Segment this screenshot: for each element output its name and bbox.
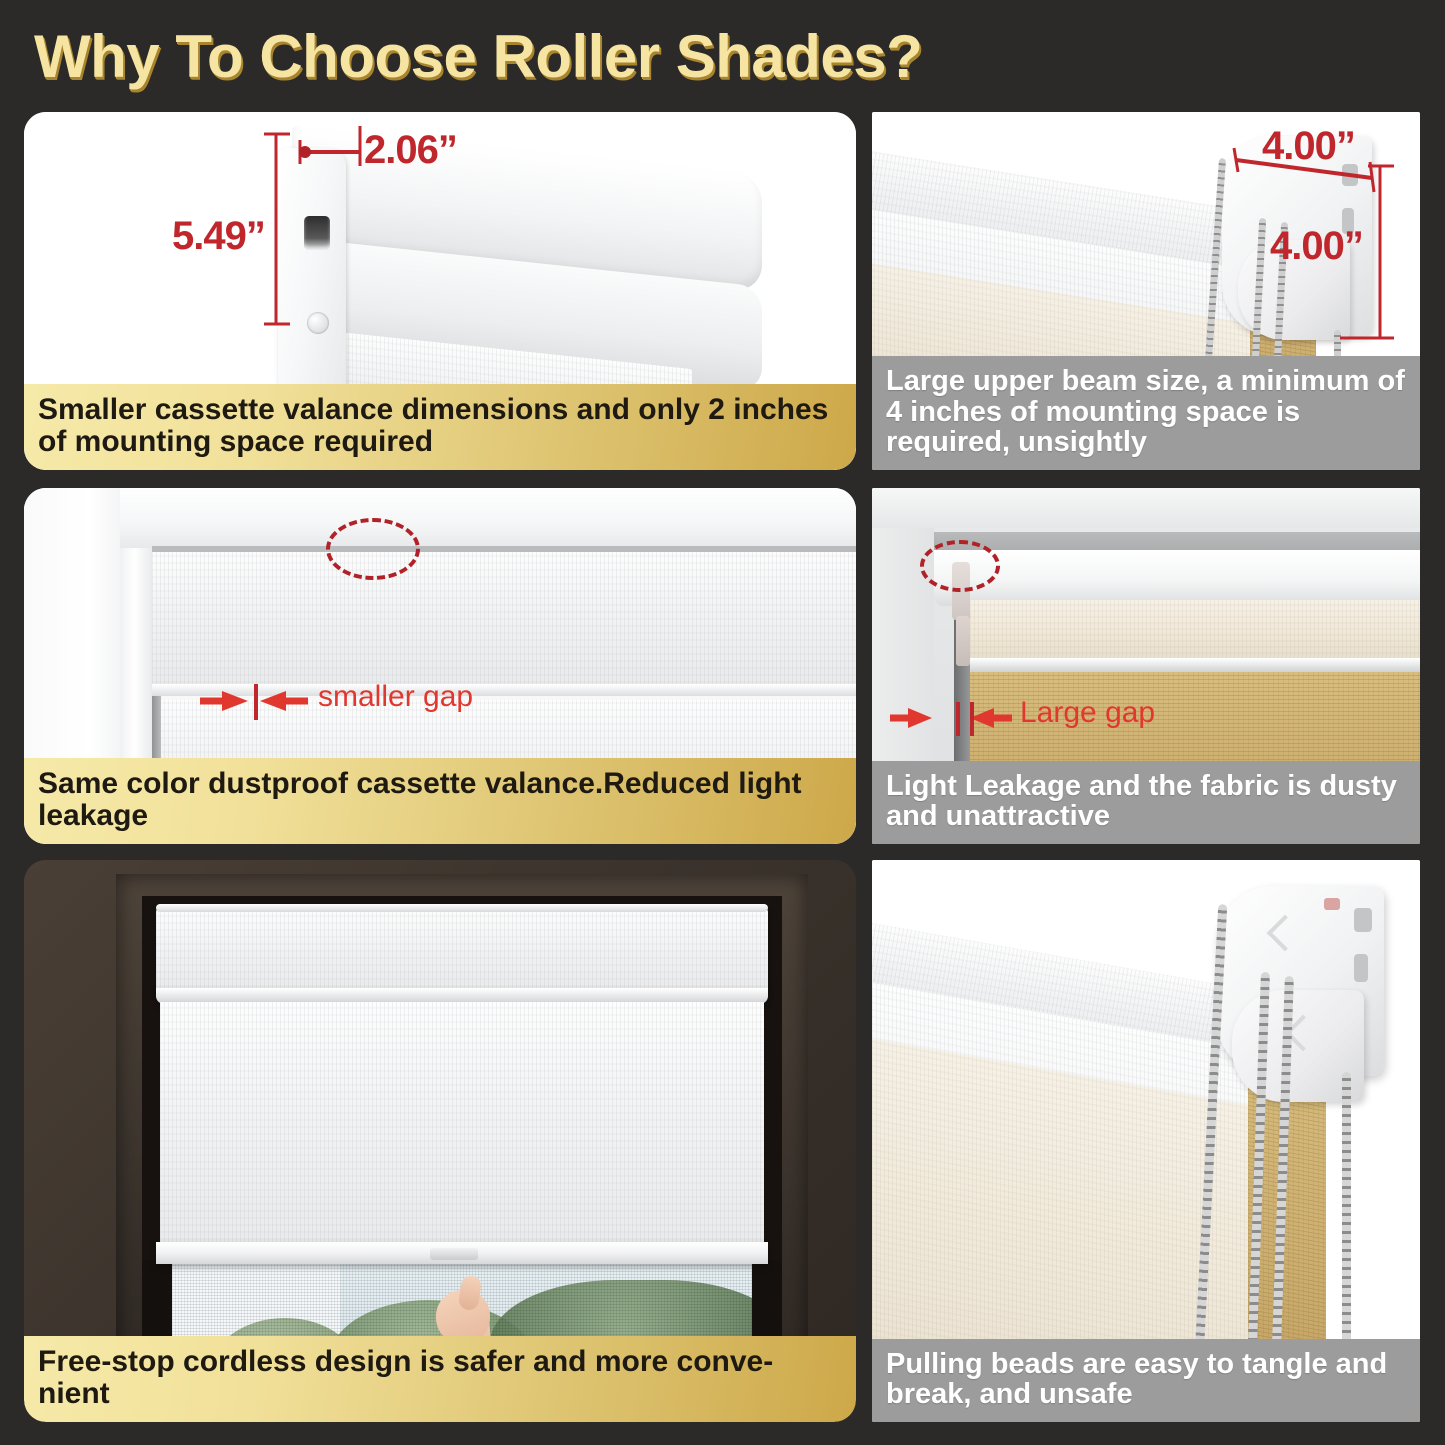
annotation-height-dimension: 4.00” — [1270, 224, 1363, 269]
annotation-height-dimension: 5.49” — [172, 214, 265, 259]
annotation-gap-label: Large gap — [1020, 696, 1155, 730]
caption-cordless-design: Free-stop cordless design is safer and m… — [24, 1336, 856, 1422]
panel-pulling-beads: Pulling beads are easy to tangle and bre… — [872, 860, 1420, 1422]
annotation-gap-label: smaller gap — [318, 680, 473, 714]
panel-large-upper-beam: 4.00” 4.00” Large upper beam size, a min… — [872, 112, 1420, 470]
caption-light-leakage: Light Leakage and the fabric is dusty an… — [872, 761, 1420, 844]
annotation-width-dimension: 2.06” — [364, 128, 457, 173]
infographic-root: Why To Choose Roller Shades? — [0, 0, 1445, 1445]
caption-large-upper-beam: Large upper beam size, a minimum of 4 in… — [872, 356, 1420, 470]
panel-light-leakage: Large gap Light Leakage and the fabric i… — [872, 488, 1420, 844]
caption-dustproof-cassette-valance: Same color dustproof cassette valance.Re… — [24, 758, 856, 844]
panel-cordless-design: Free-stop cordless design is safer and m… — [24, 860, 856, 1422]
panel-dustproof-cassette-valance: smaller gap Same color dustproof cassett… — [24, 488, 856, 844]
highlight-circle — [326, 518, 420, 580]
page-title: Why To Choose Roller Shades? — [34, 22, 922, 91]
highlight-circle — [920, 540, 1000, 592]
caption-pulling-beads: Pulling beads are easy to tangle and bre… — [872, 1339, 1420, 1422]
caption-cassette-valance-dimensions: Smaller cassette valance dimensions and … — [24, 384, 856, 470]
annotation-width-dimension: 4.00” — [1262, 124, 1355, 169]
panel-cassette-valance-dimensions: 2.06” 5.49” Smaller cassette valance dim… — [24, 112, 856, 470]
